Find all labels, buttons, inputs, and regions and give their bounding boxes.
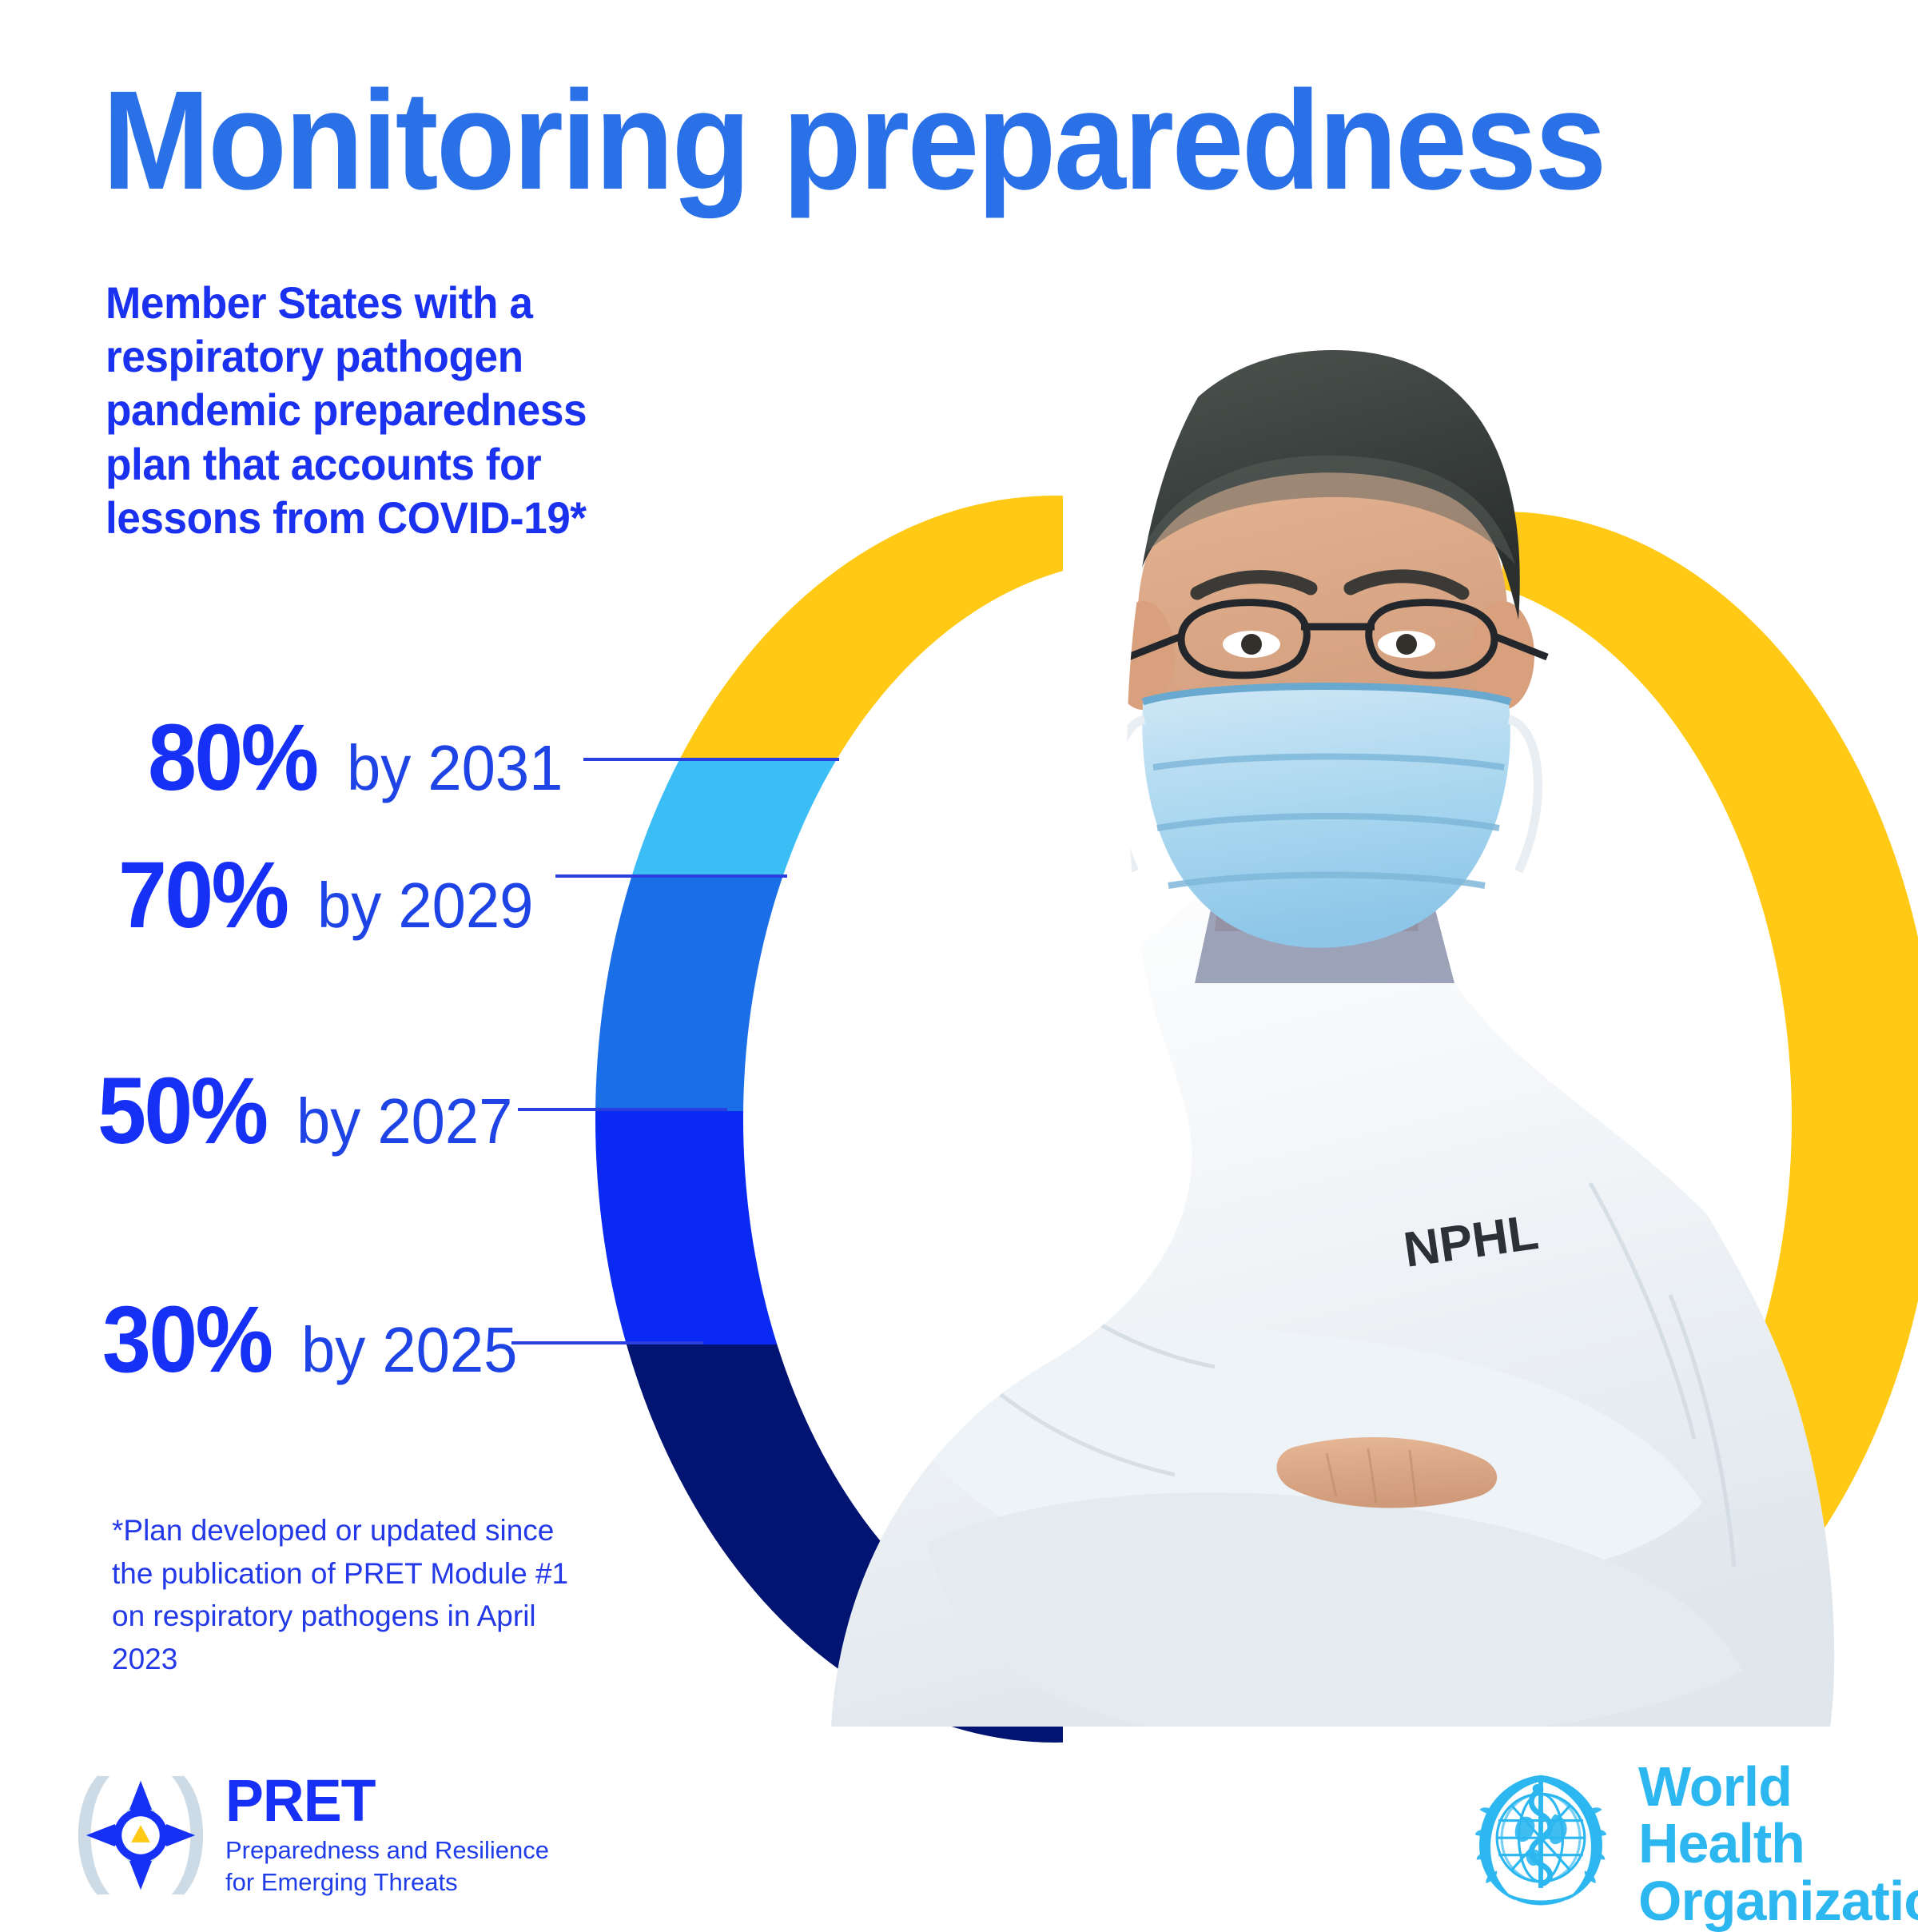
leader-line-2031 (583, 758, 839, 761)
stat-year-2031: by 2031 (347, 731, 563, 805)
who-line-2: Organization (1638, 1873, 1918, 1930)
pret-logo-text: PRET Preparedness and Resilience for Eme… (225, 1773, 549, 1898)
footnote: *Plan developed or updated since the pub… (112, 1509, 591, 1681)
stat-row-2025: 30% by 2025 (102, 1285, 529, 1394)
who-emblem-icon (1462, 1766, 1619, 1922)
pret-logo: PRET Preparedness and Resilience for Eme… (74, 1768, 549, 1902)
leader-line-2027 (518, 1108, 727, 1111)
subtitle: Member States with a respiratory pathoge… (105, 276, 637, 544)
stat-row-2027: 50% by 2027 (97, 1057, 524, 1165)
stat-percent-2031: 80% (148, 703, 316, 812)
pret-tagline-line2: for Emerging Threats (225, 1866, 549, 1898)
stat-row-2029: 70% by 2029 (118, 841, 545, 950)
stat-year-2029: by 2029 (317, 869, 533, 942)
leader-line-2029 (555, 874, 787, 878)
stat-year-2027: by 2027 (296, 1085, 512, 1158)
stat-percent-2029: 70% (118, 841, 287, 950)
stat-year-2025: by 2025 (301, 1313, 517, 1387)
pret-tagline-line1: Preparedness and Resilience (225, 1834, 549, 1866)
infographic-canvas: NPHL (0, 0, 1918, 1918)
pret-name: PRET (225, 1773, 539, 1829)
stat-row-2031: 80% by 2031 (148, 703, 575, 812)
page-title: Monitoring preparedness (102, 70, 1605, 211)
leader-line-2025 (511, 1341, 703, 1344)
who-line-1: World Health (1638, 1759, 1918, 1873)
stat-percent-2027: 50% (97, 1057, 266, 1165)
who-logo: World Health Organization (1462, 1759, 1918, 1930)
who-logo-text: World Health Organization (1638, 1759, 1918, 1930)
pret-compass-icon (74, 1768, 208, 1902)
stat-percent-2025: 30% (102, 1285, 271, 1394)
